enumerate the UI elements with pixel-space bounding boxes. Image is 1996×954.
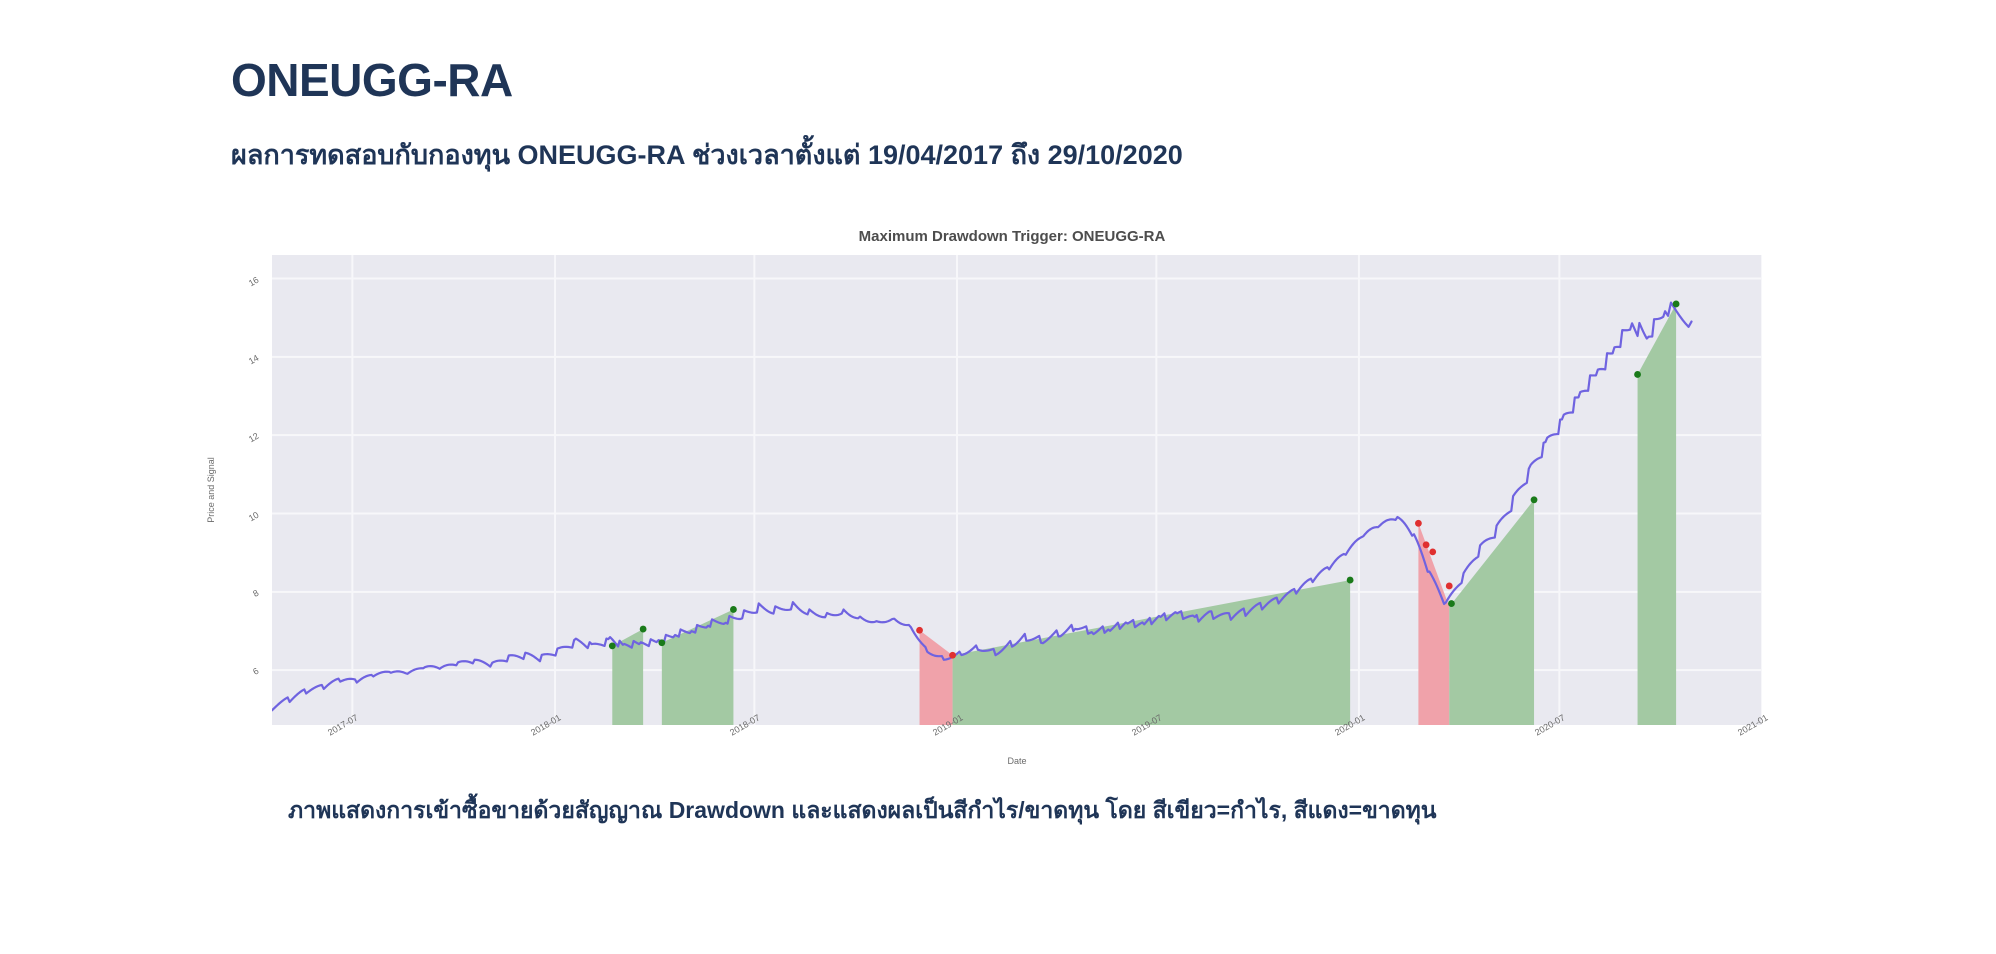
- page-subtitle: ผลการทดสอบกับกองทุน ONEUGG-RA ช่วงเวลาตั…: [231, 133, 1183, 176]
- marker-entry: [1448, 600, 1455, 607]
- marker-loss-exit: [949, 652, 956, 659]
- marker-loss-mid: [1423, 541, 1430, 548]
- trade-band-profit: [1449, 500, 1534, 725]
- trade-band-profit: [953, 580, 1351, 725]
- marker-loss-exit: [1446, 583, 1453, 590]
- plot-area: [272, 255, 1762, 725]
- marker-exit: [1673, 301, 1680, 308]
- y-tick-label: 10: [247, 509, 261, 523]
- marker-exit: [1347, 577, 1354, 584]
- marker-exit: [640, 626, 647, 633]
- x-axis-label: Date: [272, 756, 1762, 766]
- marker-entry: [1634, 371, 1641, 378]
- marker-entry: [658, 639, 665, 646]
- y-axis-ticks: 6810121416: [236, 255, 258, 725]
- marker-exit: [1531, 496, 1538, 503]
- marker-entry: [609, 642, 616, 649]
- y-axis-label-text: Price and Signal: [206, 457, 216, 523]
- marker-loss-entry: [916, 627, 923, 634]
- price-chart-svg: [272, 255, 1762, 725]
- page-root: ONEUGG-RA ผลการทดสอบกับกองทุน ONEUGG-RA …: [0, 0, 1996, 954]
- trade-band-profit: [1638, 304, 1677, 725]
- page-title: ONEUGG-RA: [231, 53, 513, 107]
- marker-exit: [730, 606, 737, 613]
- y-tick-label: 12: [247, 431, 261, 445]
- y-tick-label: 14: [247, 352, 261, 366]
- y-axis-label: Price and Signal: [204, 255, 218, 725]
- y-tick-label: 6: [251, 666, 260, 677]
- figure-caption: ภาพแสดงการเข้าซื้อขายด้วยสัญญาณ Drawdown…: [288, 793, 1437, 829]
- chart-title: Maximum Drawdown Trigger: ONEUGG-RA: [262, 228, 1762, 245]
- trade-band-loss: [920, 630, 953, 725]
- chart-figure: Maximum Drawdown Trigger: ONEUGG-RA Pric…: [262, 228, 1762, 758]
- marker-loss-mid: [1429, 548, 1436, 555]
- y-tick-label: 16: [247, 274, 261, 288]
- y-tick-label: 8: [251, 587, 260, 598]
- marker-loss-entry: [1415, 520, 1422, 527]
